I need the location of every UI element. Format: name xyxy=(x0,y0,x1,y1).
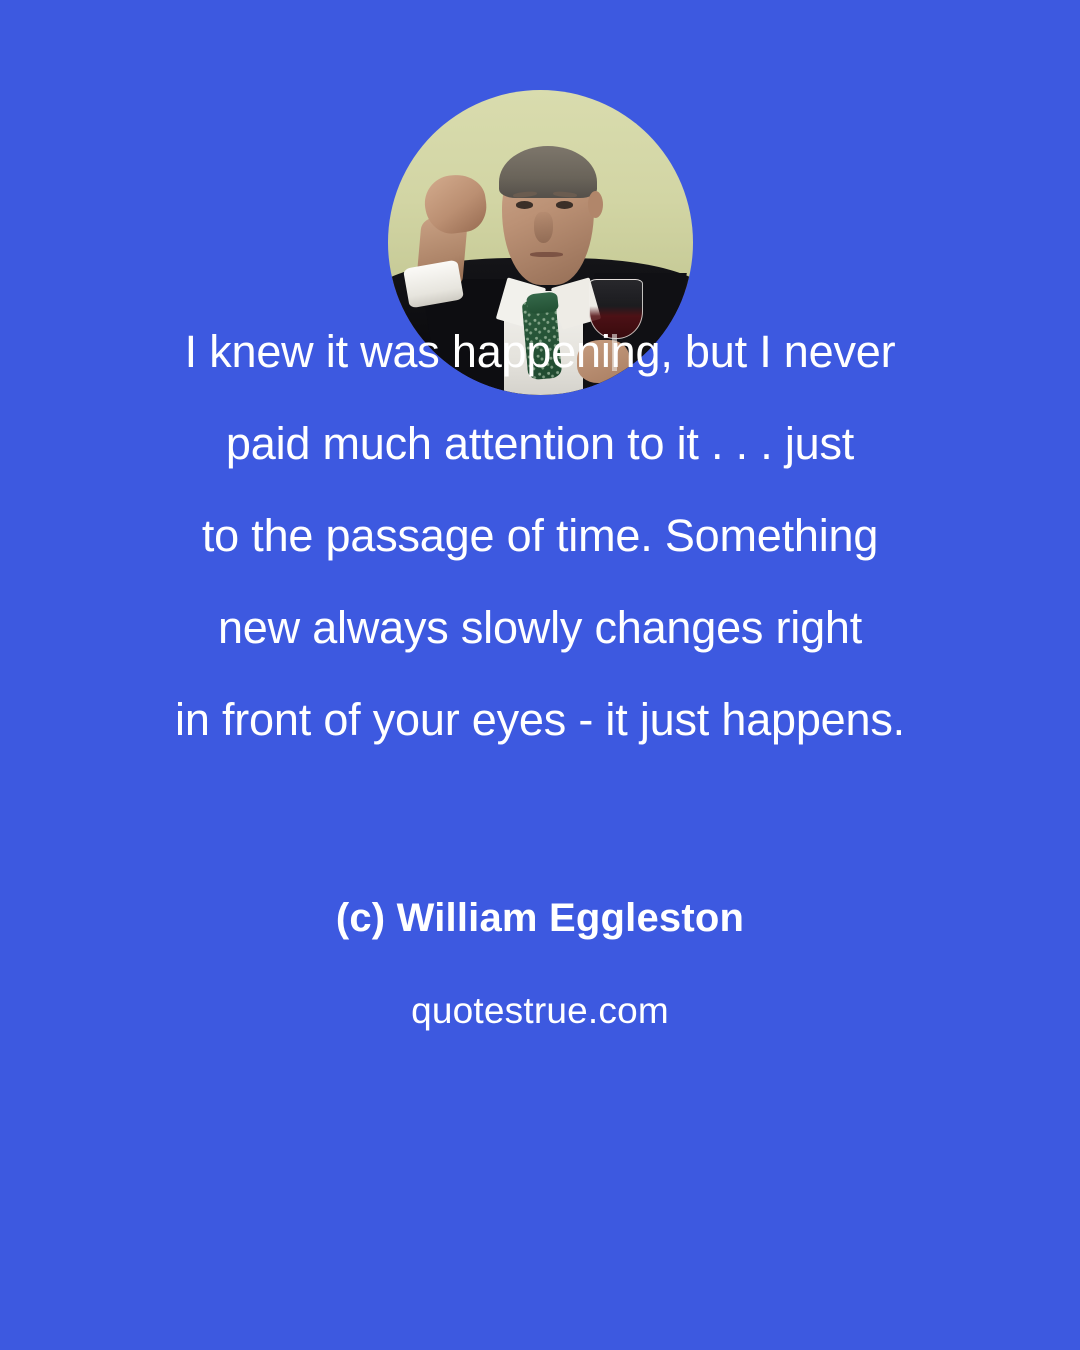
mouth xyxy=(530,252,564,257)
site-watermark: quotestrue.com xyxy=(0,990,1080,1032)
quote-card: I knew it was happening, but I never pai… xyxy=(0,0,1080,1350)
eye-left xyxy=(516,201,533,208)
ear xyxy=(588,191,603,218)
eye-right xyxy=(556,201,573,208)
quote-attribution: (c) William Eggleston xyxy=(0,896,1080,941)
quote-text: I knew it was happening, but I never pai… xyxy=(90,306,990,766)
nose xyxy=(534,212,552,243)
